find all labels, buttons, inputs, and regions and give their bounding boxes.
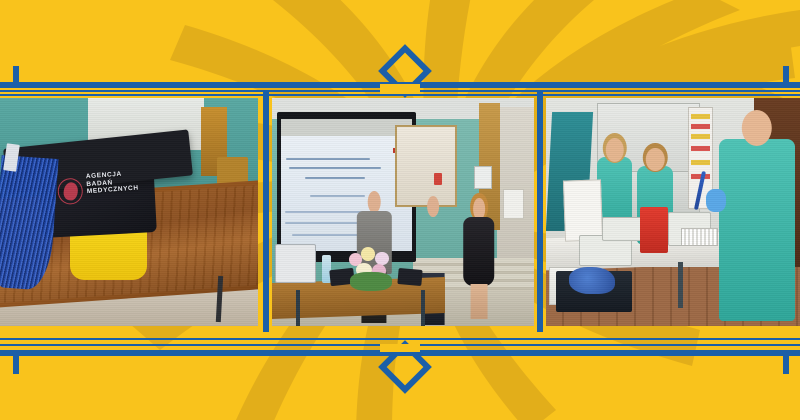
- diamond-top-mask: [380, 84, 420, 94]
- blue-gloves: [569, 267, 615, 294]
- bottom-blue-hairline-1: [0, 338, 800, 340]
- flower: [361, 247, 375, 261]
- wall-poster: [503, 189, 523, 218]
- bench-leg: [678, 262, 683, 308]
- left-end-tick-bottom: [13, 356, 19, 374]
- pipette-tip-rack: [681, 228, 719, 246]
- posted-document: [563, 179, 603, 242]
- foliage: [350, 272, 392, 291]
- abm-logo: AGENCJA BADAŃ MEDYCZNYCH: [50, 170, 156, 218]
- slide-text-line: [305, 177, 365, 179]
- dress: [463, 217, 495, 286]
- head: [646, 148, 664, 171]
- slide-header-band: [281, 119, 412, 136]
- torso: [417, 215, 450, 275]
- notice-strip: [691, 160, 710, 165]
- red-sharps-container: [640, 207, 668, 253]
- gloved-hand: [706, 189, 726, 212]
- photo-divider-left: [263, 92, 269, 332]
- slide-text-line: [289, 167, 381, 169]
- abm-logo-text: AGENCJA BADAŃ MEDYCZNYCH: [85, 170, 138, 196]
- abm-logo-mark: [57, 178, 83, 205]
- person-host: [461, 198, 498, 317]
- head: [742, 110, 772, 146]
- laptop: [275, 244, 316, 282]
- photo-divider-right: [537, 92, 543, 332]
- diamond-bottom-mask: [380, 344, 420, 352]
- notice-strip: [691, 114, 710, 119]
- photo-strip: AGENCJA BADAŃ MEDYCZNYCH: [0, 98, 800, 326]
- photo-laboratory[interactable]: [546, 98, 800, 326]
- desk-leg: [296, 290, 300, 326]
- flower: [375, 252, 388, 265]
- right-end-tick: [783, 66, 789, 84]
- notice-strip: [691, 134, 710, 139]
- photo-graduation-cap[interactable]: AGENCJA BADAŃ MEDYCZNYCH: [0, 98, 258, 326]
- flower-bouquet: [345, 244, 405, 294]
- person-lab-technician: [719, 139, 795, 321]
- banner-canvas: AGENCJA BADAŃ MEDYCZNYCH: [0, 0, 800, 420]
- slide-text-line: [286, 158, 370, 160]
- notice-strip: [691, 124, 710, 129]
- wall-board: [395, 125, 457, 207]
- wall-panel: [474, 166, 492, 189]
- legs: [471, 284, 488, 320]
- desk-leg: [421, 290, 425, 326]
- notice-strip: [691, 146, 710, 151]
- right-end-tick-bottom: [783, 356, 789, 374]
- exit-sign: [434, 173, 442, 184]
- left-end-tick: [13, 66, 19, 84]
- head: [605, 138, 623, 163]
- photo-lecture-hall[interactable]: [272, 98, 534, 326]
- top-blue-hairline-2: [0, 94, 800, 96]
